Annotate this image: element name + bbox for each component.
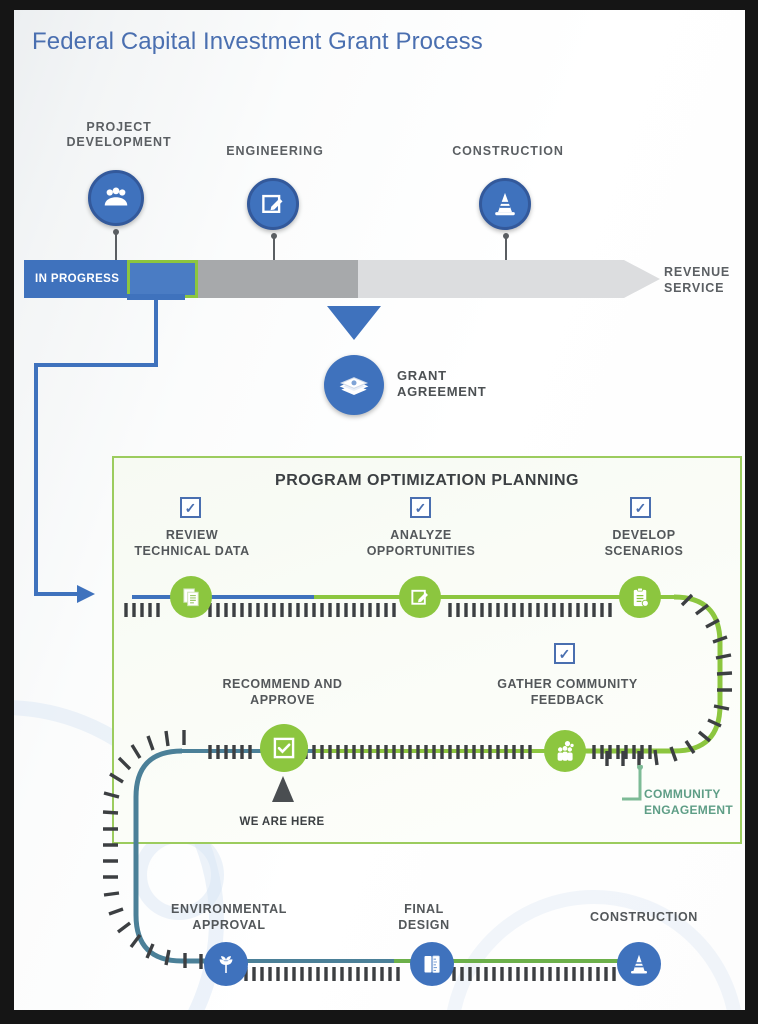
traffic-cone-icon xyxy=(491,190,519,218)
revenue-service-label: REVENUESERVICE xyxy=(664,265,745,296)
phase-icon-construction[interactable] xyxy=(479,178,531,230)
checkbox-analyze-opportunities[interactable]: ✓ xyxy=(410,497,431,518)
phase-label-engineering: ENGINEERING xyxy=(210,144,340,159)
checkbox-review-technical-data[interactable]: ✓ xyxy=(180,497,201,518)
pencil-square-icon xyxy=(260,191,287,218)
downstream-icon-construction[interactable] xyxy=(617,942,661,986)
page-title: Federal Capital Investment Grant Process xyxy=(32,28,483,56)
checkbox-develop-scenarios[interactable]: ✓ xyxy=(630,497,651,518)
step-label-analyze-opportunities: ANALYZEOPPORTUNITIES xyxy=(356,528,486,559)
infographic-canvas: Federal Capital Investment Grant Process… xyxy=(14,10,745,1010)
step-icon-analyze-opportunities[interactable] xyxy=(399,576,441,618)
step-icon-develop-scenarios[interactable] xyxy=(619,576,661,618)
step-icon-review-technical-data[interactable] xyxy=(170,576,212,618)
documents-icon xyxy=(180,586,203,609)
people-icon xyxy=(101,183,131,213)
phase-label-project-development: PROJECTDEVELOPMENT xyxy=(54,120,184,151)
we-are-here-pointer-icon xyxy=(272,776,294,802)
panel-title: PROGRAM OPTIMIZATION PLANNING xyxy=(114,472,740,490)
we-are-here-label: WE ARE HERE xyxy=(223,816,341,828)
leaf-icon xyxy=(214,952,238,976)
step-label-develop-scenarios: DEVELOPSCENARIOS xyxy=(584,528,704,559)
downstream-icon-environmental-approval[interactable] xyxy=(204,942,248,986)
phase-icon-project-development[interactable] xyxy=(88,170,144,226)
checkbox-gather-community-feedback[interactable]: ✓ xyxy=(554,643,575,664)
clipboard-list-icon xyxy=(629,586,652,609)
progress-arrow-head xyxy=(624,260,660,298)
blueprint-ruler-icon xyxy=(420,952,444,976)
community-engagement-label: COMMUNITYENGAGEMENT xyxy=(644,786,744,818)
money-stack-icon xyxy=(338,369,370,401)
checkbox-square-icon xyxy=(271,735,297,761)
step-label-review-technical-data: REVIEWTECHNICAL DATA xyxy=(127,528,257,559)
step-label-recommend-and-approve: RECOMMEND ANDAPPROVE xyxy=(210,677,355,708)
stem-construction xyxy=(505,236,507,262)
traffic-cone-icon xyxy=(627,952,651,976)
grant-agreement-label: GRANTAGREEMENT xyxy=(397,368,486,401)
step-icon-gather-community-feedback[interactable] xyxy=(544,730,586,772)
step-icon-recommend-and-approve[interactable] xyxy=(260,724,308,772)
downstream-label-final-design: FINALDESIGN xyxy=(359,902,489,933)
downstream-label-environmental-approval: ENVIRONMENTALAPPROVAL xyxy=(154,902,304,933)
downstream-label-construction: CONSTRUCTION xyxy=(569,910,719,926)
watermark-circle-right xyxy=(444,890,744,1010)
pencil-square-icon xyxy=(409,586,432,609)
grant-agreement-pointer-icon xyxy=(327,306,381,340)
phase-icon-engineering[interactable] xyxy=(247,178,299,230)
grant-agreement-icon-button[interactable] xyxy=(324,355,384,415)
community-people-icon xyxy=(553,739,577,763)
downstream-icon-final-design[interactable] xyxy=(410,942,454,986)
progress-segment-construction xyxy=(358,260,624,298)
phase-label-construction: CONSTRUCTION xyxy=(439,144,577,159)
step-label-gather-community-feedback: GATHER COMMUNITYFEEDBACK xyxy=(485,677,650,708)
